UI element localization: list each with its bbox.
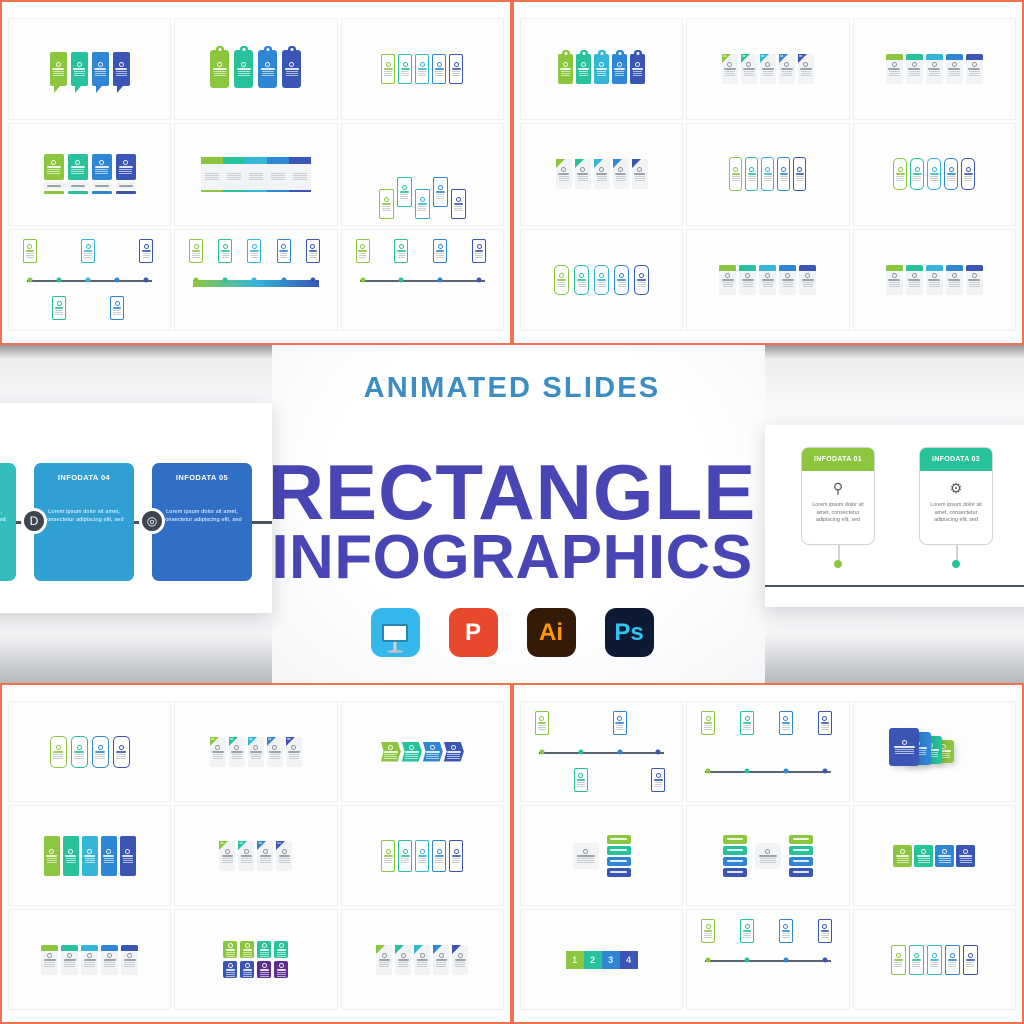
card-text-line	[764, 178, 771, 179]
card-text-line	[104, 964, 115, 965]
card-text-line	[821, 935, 829, 936]
halffold-cards-5[interactable]	[520, 123, 683, 225]
mini-card	[558, 54, 573, 84]
card-icon	[223, 244, 228, 249]
mini-card	[740, 711, 754, 735]
mini-card	[910, 158, 924, 190]
card-title-bar	[384, 68, 392, 70]
infodata-card-title: INFODATA 03	[0, 473, 16, 482]
card-text-line	[725, 73, 735, 74]
mini-card	[612, 54, 627, 84]
card-text-line	[743, 933, 751, 934]
table-column	[223, 157, 245, 192]
card-text-line	[417, 966, 427, 967]
card-text-line	[277, 972, 286, 973]
mini-card	[306, 239, 320, 263]
card-text-line	[616, 178, 626, 179]
thumb-content	[9, 702, 170, 801]
column-body	[289, 164, 311, 190]
card-text-line	[85, 862, 95, 863]
card-title-bar	[968, 68, 980, 70]
card-title-bar	[928, 279, 940, 281]
timeline-wrap	[15, 236, 164, 324]
card-text-line	[447, 756, 460, 757]
card-text-line	[452, 75, 460, 76]
infodata-card-body: Lorem ipsum dolor sit amet, consectetur …	[0, 508, 16, 524]
card-title-bar	[948, 68, 960, 70]
mini-card	[395, 945, 411, 975]
keynote-icon[interactable]	[371, 608, 420, 657]
top-right-panel[interactable]: 0102030405	[512, 0, 1024, 345]
split-outline-5[interactable]	[341, 805, 504, 906]
mini-card	[432, 54, 446, 84]
card-text-line	[260, 952, 269, 953]
infodata-card[interactable]: INFODATA 05Lorem ipsum dolor sit amet, c…	[152, 463, 252, 581]
card-text-line	[744, 73, 754, 74]
mini-card	[575, 159, 591, 189]
card-number: 05	[287, 737, 290, 741]
chip-cards-5[interactable]	[853, 18, 1016, 120]
mini-card	[945, 945, 960, 975]
card-text-line	[359, 255, 367, 256]
mini-card	[651, 768, 665, 792]
big-number-band-4[interactable]: 1234	[520, 909, 683, 1010]
card-text-line	[116, 73, 127, 74]
card-icon	[281, 244, 286, 249]
card-text-line	[435, 71, 443, 72]
table-columns-5[interactable]	[174, 123, 337, 225]
card-text-line	[226, 976, 235, 977]
numbered-tab-cards-5[interactable]	[686, 229, 849, 331]
table-column	[267, 157, 289, 192]
org-chart-left[interactable]	[520, 805, 683, 906]
card-icon	[706, 716, 711, 721]
cell-line	[249, 177, 263, 178]
mini-card	[891, 945, 906, 975]
card-title-bar	[802, 279, 814, 281]
mini-card	[113, 736, 130, 768]
card-text-line	[909, 71, 920, 72]
mini-card: 03	[248, 737, 264, 767]
card-text-line	[455, 962, 465, 963]
card-title-bar	[743, 930, 751, 932]
card-icon	[144, 244, 149, 249]
card-icon	[262, 943, 267, 948]
number-segment: 4	[620, 951, 638, 969]
thumb-content	[687, 230, 848, 330]
bottom-left-panel[interactable]: 010203040501020304	[0, 683, 512, 1024]
infodata-card[interactable]: INFODATA 02⚙Lorem ipsum dolor sit amet, …	[919, 447, 993, 545]
card-text-line	[113, 312, 121, 313]
card-title-bar	[894, 959, 903, 961]
card-icon	[952, 273, 957, 278]
card-title-bar	[743, 68, 754, 70]
card-text-line	[251, 754, 261, 755]
mini-card	[729, 157, 742, 191]
card-text-line	[116, 71, 127, 72]
card-text-line	[241, 860, 251, 861]
card-text-line	[418, 75, 426, 76]
timeline-arrow-5[interactable]	[341, 229, 504, 331]
card-title-bar	[966, 959, 975, 961]
powerpoint-icon[interactable]: P	[449, 608, 498, 657]
timeline-axis	[705, 960, 830, 962]
card-text-line	[782, 73, 792, 74]
card-title-bar	[938, 855, 951, 857]
mini-card	[554, 265, 569, 295]
outline-round-5[interactable]	[853, 123, 1016, 225]
card-text-line	[615, 73, 625, 74]
card-title-bar	[796, 173, 804, 175]
card-text-line	[732, 176, 739, 177]
card-text-line	[213, 758, 223, 759]
card-row	[223, 941, 288, 958]
timeline-vertical-6[interactable]	[520, 701, 683, 802]
column-header	[223, 157, 245, 164]
card-number: 02	[239, 841, 242, 845]
card-tab	[719, 265, 736, 271]
card-text-line	[401, 71, 409, 72]
card-text-line	[260, 974, 269, 975]
card-icon	[75, 160, 80, 165]
card-icon	[745, 924, 750, 929]
card-text-line	[723, 284, 734, 285]
card-title-bar	[436, 959, 447, 961]
card-text-line	[104, 862, 114, 863]
card-text-line	[763, 73, 773, 74]
mini-card	[886, 54, 903, 84]
card-title-bar	[84, 855, 95, 857]
mixed-grid-5[interactable]	[853, 909, 1016, 1010]
chevron-row-4[interactable]	[341, 701, 504, 802]
card-text-line	[821, 729, 829, 730]
card-text-line	[384, 860, 392, 861]
sidebar-label-cards-5[interactable]	[853, 229, 1016, 331]
outline-thick-4[interactable]	[8, 701, 171, 802]
card-title-bar	[288, 751, 299, 753]
corner-ribbon-cards-5[interactable]: 0102030405	[174, 701, 337, 802]
card-text-line	[638, 286, 646, 287]
accent-bar	[68, 191, 88, 194]
card-text-line	[577, 860, 594, 861]
thumb-content	[687, 124, 848, 224]
card-text-line	[95, 169, 108, 170]
card-text-line	[143, 255, 151, 256]
card-tab	[966, 265, 983, 271]
card-text-line	[579, 71, 589, 72]
hex-badge-cards-5[interactable]	[8, 909, 171, 1010]
card-text-line	[55, 314, 63, 315]
card-text-line	[418, 73, 426, 74]
node-title-bar	[727, 838, 744, 840]
thumb-content	[9, 230, 170, 330]
mini-card	[394, 239, 408, 263]
mini-card	[739, 265, 756, 295]
slide-preview-right[interactable]: INFODATA 01⚲Lorem ipsum dolor sit amet, …	[765, 425, 1024, 607]
card-title-bar	[577, 279, 586, 281]
card-text-line	[238, 71, 250, 72]
card-title-bar	[617, 279, 626, 281]
card-text-line	[447, 758, 460, 759]
card-text-line	[635, 176, 645, 177]
card-text-line	[241, 862, 251, 863]
card-text-line	[400, 198, 408, 199]
card-text-line	[192, 255, 200, 256]
card-text-line	[436, 198, 444, 199]
mini-card	[946, 54, 963, 84]
card-text-line	[53, 71, 64, 72]
timeline-base-5[interactable]	[686, 701, 849, 802]
card-text-line	[143, 253, 151, 254]
card-title-bar	[44, 959, 56, 961]
card-icon	[578, 773, 583, 778]
timeline-bar-7[interactable]	[174, 229, 337, 331]
timeline-dot	[783, 768, 788, 773]
card-title-bar	[426, 751, 440, 753]
mini-card	[101, 836, 117, 876]
mini-card	[116, 154, 136, 180]
tag-cards-4[interactable]	[174, 18, 337, 120]
thumb-content	[521, 806, 682, 905]
timeline-updown-8[interactable]	[8, 229, 171, 331]
card-text-line	[251, 257, 259, 258]
card-text-line	[743, 937, 751, 938]
timeline-axis	[705, 771, 830, 773]
card-text-line	[930, 962, 938, 963]
corner-number-cards-5[interactable]: 0102030405	[686, 18, 849, 120]
card-title-bar	[119, 166, 133, 168]
table-column	[289, 157, 311, 192]
org-chart-split[interactable]	[686, 805, 849, 906]
mini-card	[218, 239, 232, 263]
card-icon	[262, 963, 267, 968]
card-title-bar	[748, 173, 756, 175]
card-number: 03	[249, 737, 252, 741]
outline-arrow-cards-5[interactable]	[341, 18, 504, 120]
infodata-card-body: Lorem ipsum dolor sit amet, consectetur …	[34, 508, 134, 524]
card-icon	[194, 244, 199, 249]
card-tab	[779, 265, 796, 271]
strip-cards-4[interactable]	[853, 805, 1016, 906]
card-title-bar	[452, 855, 460, 857]
card-number: 01	[723, 54, 726, 58]
card-text-line	[66, 862, 76, 863]
card-title-bar	[800, 68, 811, 70]
two-row-cards-8[interactable]	[174, 909, 337, 1010]
card-tab	[946, 265, 963, 271]
stacked-cards-4[interactable]	[853, 701, 1016, 802]
photoshop-glyph: Ps	[614, 619, 643, 647]
card-title-bar	[917, 855, 930, 857]
card-text-line	[116, 756, 126, 757]
card-text-line	[895, 751, 914, 752]
card-icon	[98, 745, 103, 750]
mini-card	[274, 941, 288, 958]
card-text-line	[436, 196, 444, 197]
outline-tall-5[interactable]	[686, 123, 849, 225]
card-icon	[912, 273, 917, 278]
card-text-line	[436, 194, 444, 195]
card-text-line	[436, 964, 446, 965]
card-icon	[99, 160, 104, 165]
card-text-line	[782, 933, 790, 934]
infodata-card-title: INFODATA 05	[152, 473, 252, 482]
card-text-line	[969, 286, 980, 287]
mini-card	[398, 54, 412, 84]
card-icon	[252, 244, 257, 249]
card-text-line	[723, 286, 734, 287]
wave-number-cards-4[interactable]: 01020304	[174, 805, 337, 906]
card-text-line	[53, 75, 64, 76]
column-header	[267, 157, 289, 164]
org-node	[607, 868, 631, 877]
card-text-line	[633, 75, 643, 76]
card-text-line	[289, 754, 299, 755]
label-bar	[47, 185, 61, 187]
mini-card	[71, 52, 88, 86]
card-icon	[639, 273, 644, 278]
mini-card	[240, 941, 254, 958]
thumb-content: 0102030405	[175, 702, 336, 801]
thumb-content	[687, 910, 848, 1009]
triangle-fold-5[interactable]	[341, 909, 504, 1010]
card-icon	[921, 849, 926, 854]
card-icon	[403, 849, 408, 854]
card-text-line	[558, 286, 566, 287]
card-text-line	[379, 966, 389, 967]
card-icon	[972, 273, 977, 278]
card-text-line	[26, 255, 34, 256]
card-text-line	[895, 753, 914, 754]
corner-flag	[452, 945, 461, 954]
card-title-bar	[241, 855, 252, 857]
thumb-content	[854, 19, 1015, 119]
slide-preview-left[interactable]: INFODATA 03Lorem ipsum dolor sit amet, c…	[0, 403, 272, 613]
mini-card	[701, 711, 715, 735]
node-title-bar	[793, 871, 810, 873]
card-text-line	[243, 952, 252, 953]
card-text-line	[71, 173, 84, 174]
mini-card	[701, 919, 715, 943]
card-text-line	[597, 75, 607, 76]
mini-card	[44, 154, 64, 180]
card-text-line	[454, 210, 462, 211]
corner-flag	[376, 945, 385, 954]
card-text-line	[384, 858, 392, 859]
card-text-line	[578, 176, 588, 177]
card-number: 05	[799, 54, 802, 58]
infodata-card[interactable]: INFODATA 01⚲Lorem ipsum dolor sit amet, …	[801, 447, 875, 545]
card-title-bar	[724, 68, 735, 70]
timeline-rings-5[interactable]	[686, 909, 849, 1010]
solid-tall-5[interactable]	[8, 805, 171, 906]
mini-card	[630, 54, 645, 84]
mini-card	[594, 265, 609, 295]
mini-card	[632, 159, 648, 189]
timeline-dot	[223, 277, 228, 282]
card-text-line	[384, 754, 397, 755]
thumb-content	[342, 230, 503, 330]
target-icon: ◎	[139, 508, 165, 534]
card-text-line	[243, 954, 252, 955]
timeline-dot	[783, 957, 788, 962]
mini-card: 03	[257, 841, 273, 871]
illustrator-icon[interactable]: Ai	[527, 608, 576, 657]
card-text-line	[47, 862, 57, 863]
thumb-content	[9, 806, 170, 905]
top-left-panel[interactable]	[0, 0, 512, 345]
card-icon	[437, 62, 442, 67]
card-text-line	[559, 180, 569, 181]
photoshop-icon[interactable]: Ps	[605, 608, 654, 657]
card-text-line	[597, 73, 607, 74]
card-text-line	[382, 206, 390, 207]
card-title-bar	[418, 855, 426, 857]
card-title-bar	[764, 173, 772, 175]
card-title-bar	[418, 68, 426, 70]
linked-outline-5[interactable]	[520, 229, 683, 331]
cell-line	[249, 175, 263, 176]
card-text-line	[84, 255, 92, 256]
bubble-cards-4[interactable]	[8, 18, 171, 120]
card-icon	[119, 62, 124, 67]
card-text-line	[655, 784, 663, 785]
card-text-line	[704, 937, 712, 938]
mini-card	[92, 736, 109, 768]
card-text-line	[64, 964, 75, 965]
card-icon	[438, 185, 443, 190]
mini-card	[113, 52, 130, 86]
card-text-line	[578, 284, 586, 285]
card-icon	[583, 849, 588, 854]
card-text-line	[969, 73, 980, 74]
card-title-bar	[250, 250, 258, 252]
solid-cards-label-4[interactable]	[8, 123, 171, 225]
card-text-line	[382, 210, 390, 211]
card-title-bar	[821, 722, 829, 724]
card-icon	[781, 167, 786, 172]
card-text-line	[918, 858, 930, 859]
infodata-card[interactable]: INFODATA 04Lorem ipsum dolor sit amet, c…	[34, 463, 134, 581]
card-icon	[420, 62, 425, 67]
card-text-line	[732, 178, 739, 179]
infodata-card[interactable]: INFODATA 03Lorem ipsum dolor sit amet, c…	[0, 463, 16, 581]
card-text-line	[84, 966, 95, 967]
card-icon	[437, 849, 442, 854]
card-icon	[617, 62, 622, 67]
card-icon	[559, 273, 564, 278]
pin-cards-5[interactable]	[520, 18, 683, 120]
card-title-bar	[384, 855, 392, 857]
card-title-bar	[261, 68, 274, 70]
card-text-line	[143, 257, 151, 258]
card-text-line	[947, 178, 955, 179]
mini-card	[210, 50, 229, 88]
card-icon	[77, 745, 82, 750]
mini-card	[41, 945, 58, 975]
card-text-line	[401, 860, 409, 861]
mini-card	[381, 840, 395, 872]
card-text-line	[948, 962, 956, 963]
bottom-right-panel[interactable]: 1234	[512, 683, 1024, 1024]
card-title-bar	[52, 68, 64, 70]
card-text-line	[251, 253, 259, 254]
card-text-line	[260, 858, 270, 859]
card-text-line	[577, 862, 594, 863]
card-title-bar	[947, 173, 955, 175]
card-text-line	[435, 858, 443, 859]
stagger-outline-5[interactable]	[341, 123, 504, 225]
